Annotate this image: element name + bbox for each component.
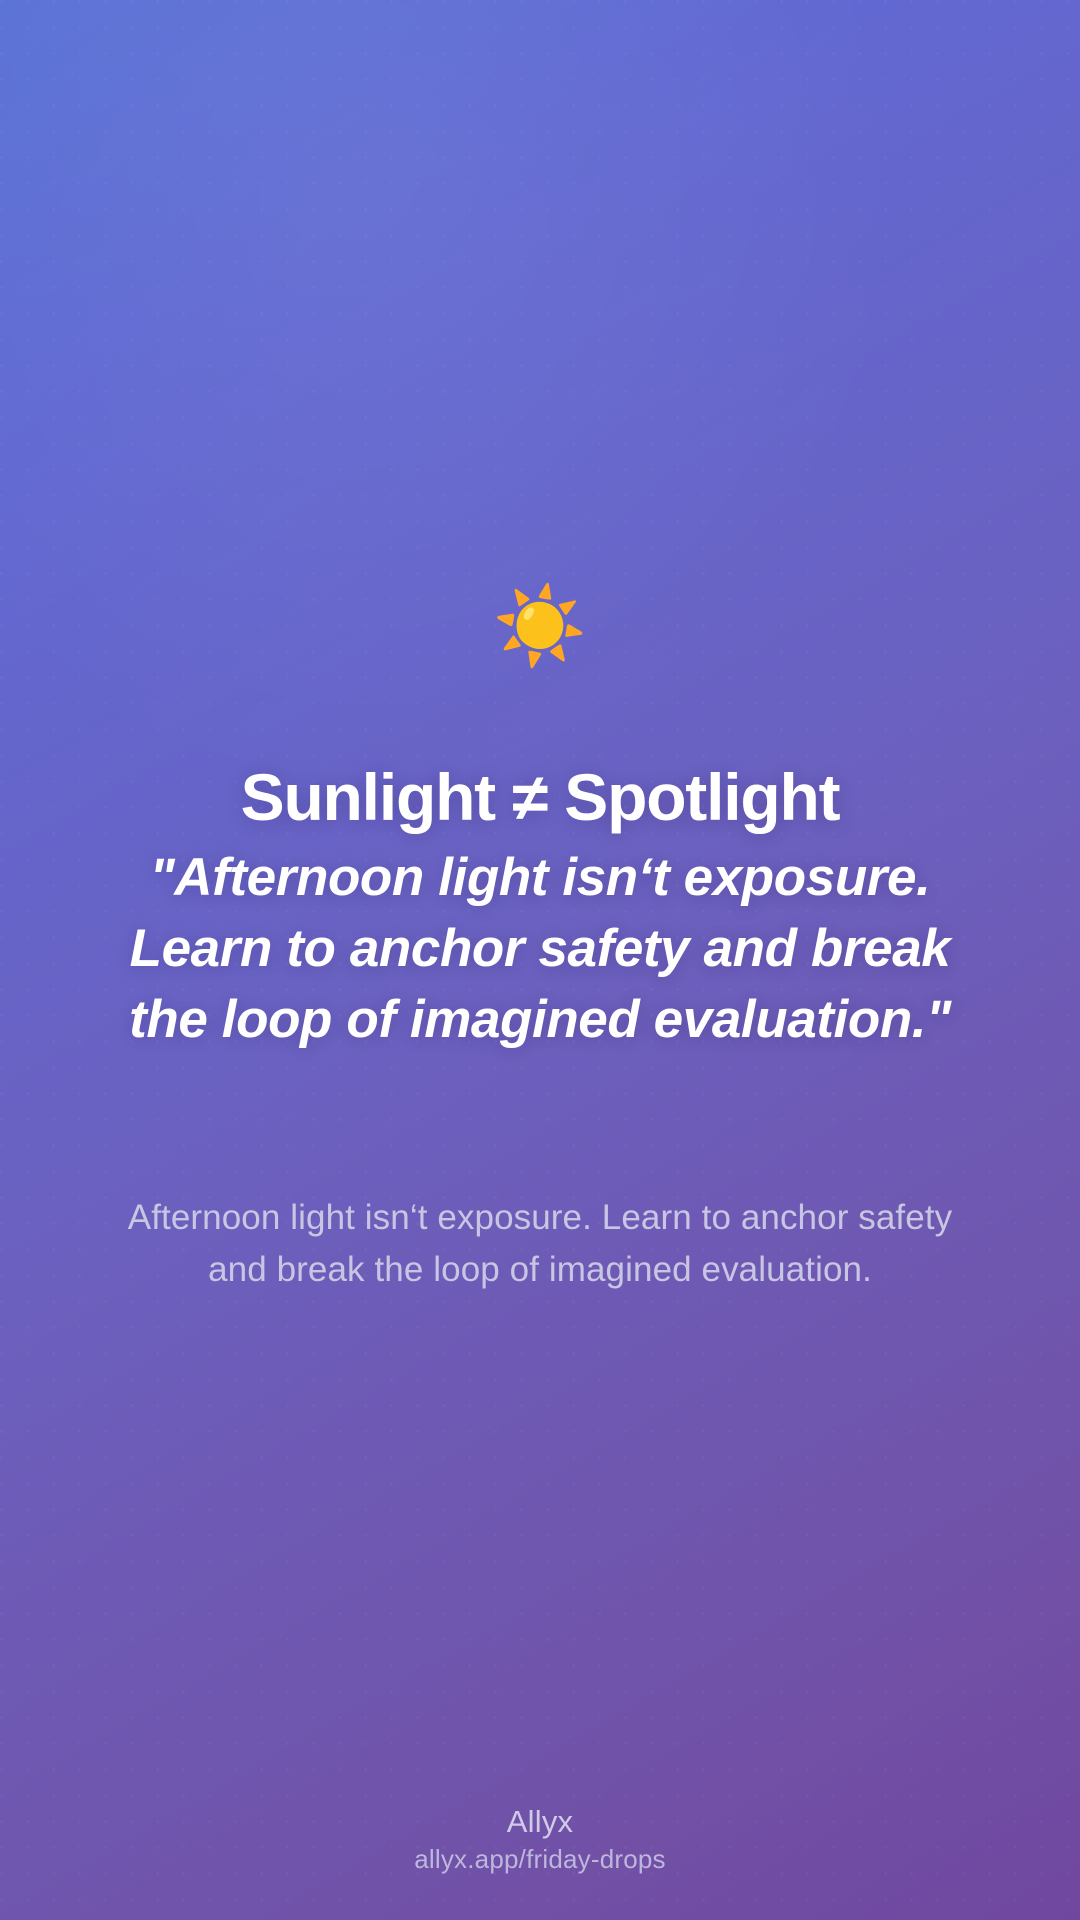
body-paragraph: Afternoon light isn‘t exposure. Learn to…	[112, 1192, 968, 1296]
footer-url[interactable]: allyx.app/friday-drops	[0, 1842, 1080, 1876]
quote-card: ☀️ Sunlight ≠ Spotlight "Afternoon light…	[0, 0, 1080, 1920]
page-title: Sunlight ≠ Spotlight	[60, 758, 1020, 836]
card-content: ☀️ Sunlight ≠ Spotlight "Afternoon light…	[0, 0, 1080, 1920]
footer: Allyx allyx.app/friday-drops	[0, 1802, 1080, 1876]
footer-brand-name: Allyx	[0, 1802, 1080, 1842]
quote-text: "Afternoon light isn‘t exposure. Learn t…	[96, 842, 984, 1055]
sun-emoji: ☀️	[0, 584, 1080, 668]
